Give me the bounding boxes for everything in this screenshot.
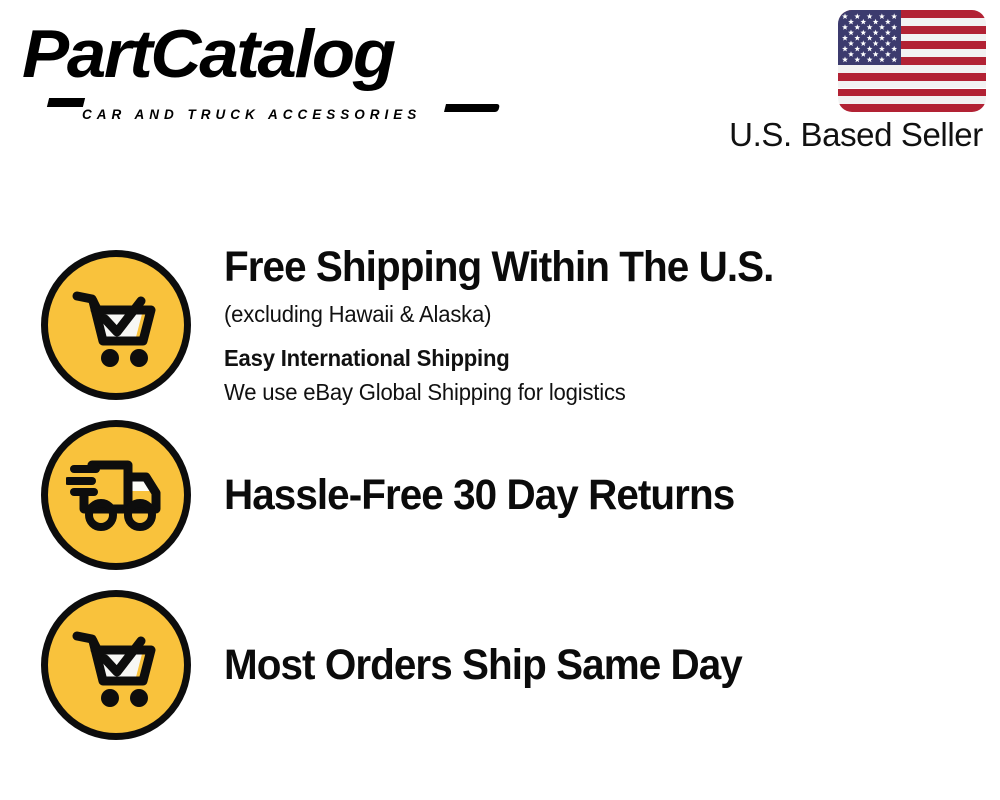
feature-subtext: (excluding Hawaii & Alaska) [224,298,950,331]
flag-stripe [838,104,986,112]
feature-subtext-bold: Easy International Shipping [224,342,950,375]
flag-stripe [838,96,986,104]
us-based-seller-label: U.S. Based Seller [722,116,990,154]
logo-swash-tail-decoration [444,104,500,112]
feature-row: Hassle-Free 30 Day Returns [0,410,1000,580]
feature-text-block: Most Orders Ship Same Day [224,640,1000,690]
feature-title: Hassle-Free 30 Day Returns [224,470,935,520]
feature-text-block: Hassle-Free 30 Day Returns [224,470,1000,520]
brand-logo: PartCatalog CAR AND TRUCK ACCESSORIES [22,18,492,113]
feature-title: Free Shipping Within The U.S. [224,242,935,292]
feature-subtext: We use eBay Global Shipping for logistic… [224,376,950,409]
feature-row: Most Orders Ship Same Day [0,580,1000,750]
shopping-cart-check-icon [41,590,191,740]
shopping-cart-check-icon [41,250,191,400]
feature-text-block: Free Shipping Within The U.S. (excluding… [224,242,1000,409]
flag-stripe [838,89,986,97]
logo-tagline: CAR AND TRUCK ACCESSORIES [82,107,421,122]
us-flag-icon [838,10,986,112]
flag-stripe [838,65,986,73]
logo-swash-decoration [47,98,85,107]
feature-row: Free Shipping Within The U.S. (excluding… [0,240,1000,410]
feature-title: Most Orders Ship Same Day [224,640,935,690]
flag-stripe [838,73,986,81]
page-header: PartCatalog CAR AND TRUCK ACCESSORIES U.… [0,0,1000,175]
flag-stripe [838,81,986,89]
flag-canton [838,10,901,65]
logo-wordmark: PartCatalog [22,14,394,94]
delivery-truck-icon [41,420,191,570]
